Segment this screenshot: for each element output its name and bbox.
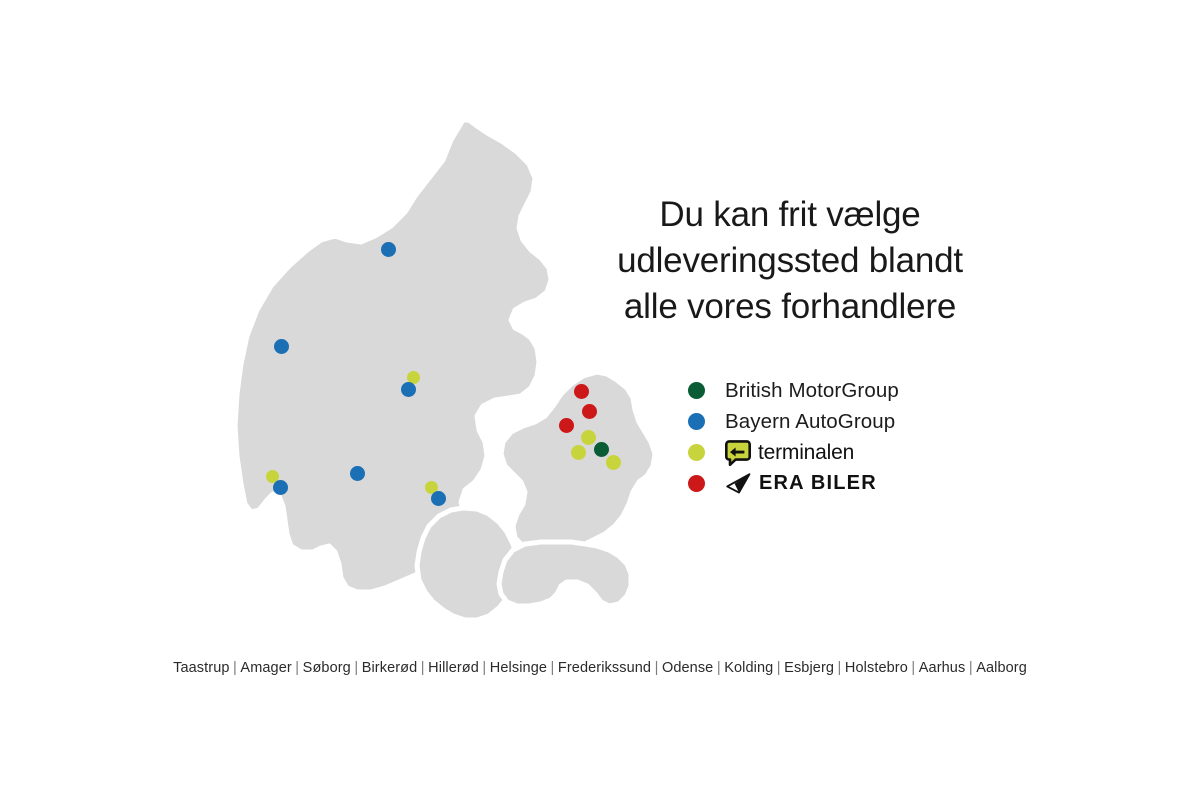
map-marker-hillerod-era[interactable]: [582, 404, 597, 419]
city-holstebro: Holstebro: [845, 660, 908, 676]
terminalen-speech-bubble-icon: [725, 440, 751, 466]
city-helsinge: Helsinge: [490, 660, 547, 676]
city-separator: |: [713, 660, 724, 676]
legend-label-british: British MotorGroup: [725, 379, 899, 403]
map-marker-helsinge-era[interactable]: [574, 384, 589, 399]
city-birkerod: Birkerød: [362, 660, 418, 676]
legend-dot-icon-bayern: [688, 413, 705, 430]
region-zealand: [501, 372, 655, 552]
city-separator: |: [547, 660, 558, 676]
map-marker-odense-bayern[interactable]: [431, 491, 446, 506]
city-esbjerg: Esbjerg: [784, 660, 834, 676]
terminalen-brand: terminalen: [725, 440, 854, 466]
legend-item-era-biler[interactable]: ERA BILER: [688, 468, 1018, 499]
legend-item-terminalen[interactable]: terminalen: [688, 437, 1018, 468]
map-marker-soborg-terminalen[interactable]: [571, 445, 586, 460]
map-marker-aarhus-bayern[interactable]: [401, 382, 416, 397]
denmark-map-svg: [215, 100, 675, 630]
city-separator: |: [651, 660, 662, 676]
city-separator: |: [292, 660, 303, 676]
city-separator: |: [479, 660, 490, 676]
city-odense: Odense: [662, 660, 713, 676]
page-title: Du kan frit vælge udleveringssted blandt…: [588, 192, 992, 331]
city-separator: |: [834, 660, 845, 676]
legend: British MotorGroup Bayern AutoGroup term…: [688, 375, 1018, 499]
city-aarhus: Aarhus: [919, 660, 966, 676]
terminalen-wordmark: terminalen: [758, 441, 854, 465]
headline-line-3: alle vores forhandlere: [588, 284, 992, 330]
city-separator: |: [417, 660, 428, 676]
map-marker-frederikssund-era[interactable]: [559, 418, 574, 433]
city-kolding: Kolding: [724, 660, 773, 676]
region-jutland: [235, 120, 551, 592]
era-triangle-icon: [725, 473, 752, 494]
headline-line-1: Du kan frit vælge: [588, 192, 992, 238]
promo-map-page: Du kan frit vælge udleveringssted blandt…: [0, 0, 1200, 800]
map-marker-amager-terminalen[interactable]: [606, 455, 621, 470]
city-separator: |: [773, 660, 784, 676]
denmark-map: [215, 100, 675, 630]
city-separator: |: [908, 660, 919, 676]
map-marker-holstebro-bayern[interactable]: [274, 339, 289, 354]
city-hillerod: Hillerød: [428, 660, 479, 676]
city-taastrup: Taastrup: [173, 660, 229, 676]
legend-dot-icon-era: [688, 475, 705, 492]
city-separator: |: [230, 660, 241, 676]
map-marker-esbjerg-bayern[interactable]: [273, 480, 288, 495]
headline-line-2: udleveringssted blandt: [588, 238, 992, 284]
legend-item-british-motorgroup[interactable]: British MotorGroup: [688, 375, 1018, 406]
city-amager: Amager: [240, 660, 291, 676]
region-lolland-falster: [499, 542, 631, 606]
map-marker-taastrup-british[interactable]: [594, 442, 609, 457]
legend-dot-icon-terminalen: [688, 444, 705, 461]
era-biler-brand: ERA BILER: [725, 472, 877, 495]
era-biler-wordmark: ERA BILER: [759, 472, 877, 495]
city-soborg: Søborg: [303, 660, 351, 676]
legend-item-bayern-autogroup[interactable]: Bayern AutoGroup: [688, 406, 1018, 437]
city-separator: |: [965, 660, 976, 676]
city-list: Taastrup|Amager|Søborg|Birkerød|Hillerød…: [0, 660, 1200, 676]
legend-label-bayern: Bayern AutoGroup: [725, 410, 895, 434]
map-marker-kolding-bayern[interactable]: [350, 466, 365, 481]
map-marker-aalborg-bayern[interactable]: [381, 242, 396, 257]
city-frederikssund: Frederikssund: [558, 660, 651, 676]
city-aalborg: Aalborg: [976, 660, 1027, 676]
legend-dot-icon-british: [688, 382, 705, 399]
map-marker-birkerod-terminalen[interactable]: [581, 430, 596, 445]
city-separator: |: [351, 660, 362, 676]
